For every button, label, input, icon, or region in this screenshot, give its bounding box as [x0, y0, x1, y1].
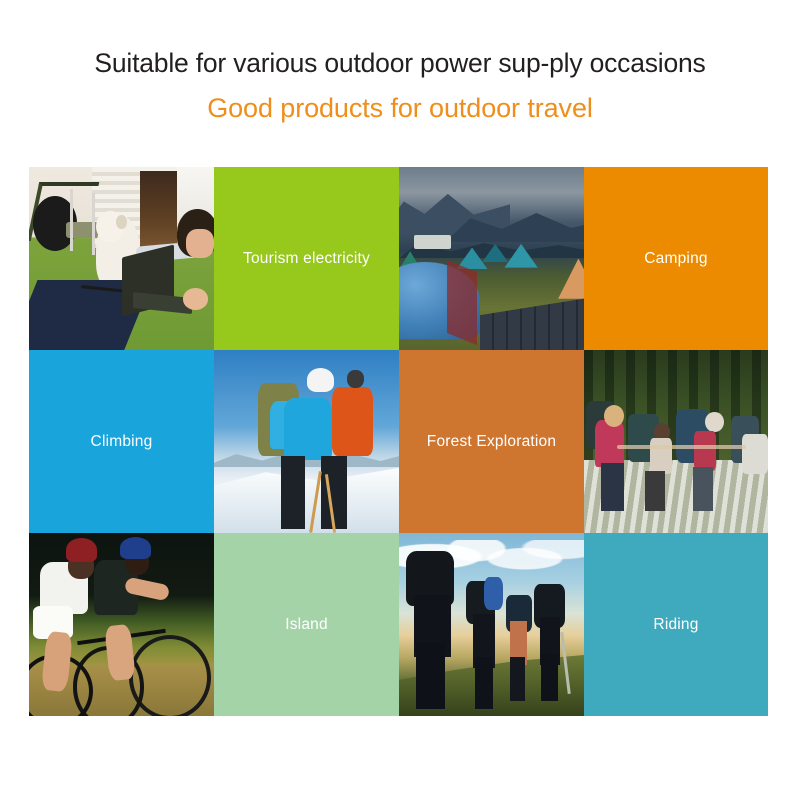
riding-label: Riding [584, 616, 768, 634]
headings-block: Suitable for various outdoor power sup-p… [0, 48, 800, 125]
tents-mountains-image [399, 167, 584, 350]
island-label: Island [214, 616, 399, 634]
mountaineers-snow-image [214, 350, 399, 533]
hiker-legs-silhouette-shape [510, 657, 525, 701]
linked-arms-shape [617, 445, 746, 449]
forest-exploration-tile[interactable]: Forest Exploration [399, 350, 584, 533]
chair-leg-shape [92, 193, 95, 255]
promo-banner: Suitable for various outdoor power sup-p… [0, 0, 800, 800]
camping-label: Camping [584, 250, 768, 268]
hiker-body-shape [694, 431, 716, 471]
cycling-helmet-shape [120, 537, 151, 559]
rv-door-shape [140, 171, 177, 248]
hiker-head-shape [705, 412, 723, 432]
person-hand-shape [183, 288, 209, 310]
cyclists-photo [29, 533, 214, 716]
hikers-sunset-photo [399, 533, 584, 716]
camping-tile[interactable]: Camping [584, 167, 768, 350]
tent-edge-shape [447, 260, 477, 345]
page-subtitle: Good products for outdoor travel [0, 93, 800, 125]
stream-crossing-photo [584, 350, 768, 533]
climber-jacket-shape [284, 398, 332, 460]
climbing-tile[interactable]: Climbing [29, 350, 214, 533]
hiker-body-shape [742, 434, 768, 474]
tourism-electricity-label: Tourism electricity [214, 250, 399, 268]
rv-camping-laptop-image [29, 167, 214, 350]
hiker-legs-shape [693, 467, 713, 511]
orange-backpack-shape [332, 387, 373, 457]
snow-slope-shape [214, 463, 399, 533]
person-face-shape [186, 229, 214, 258]
hiker-legs-silhouette-shape [541, 654, 558, 702]
hiker-body-shape [595, 420, 624, 468]
hiker-legs-shape [645, 471, 665, 511]
climbing-label: Climbing [29, 433, 214, 451]
hikers-sunset-image [399, 533, 584, 716]
tents-mountains-photo [399, 167, 584, 350]
sleeping-mat-shape [484, 577, 503, 610]
chair-leg-shape [70, 189, 73, 251]
mountaineers-snow-photo [214, 350, 399, 533]
climbing-helmet-shape [307, 368, 335, 392]
use-case-grid: Tourism electricity Camping [29, 167, 768, 716]
dog-ear-shape [116, 215, 127, 230]
tent-shape [558, 259, 584, 299]
cyclists-image [29, 533, 214, 716]
hiker-legs-silhouette-shape [475, 657, 494, 708]
camper-van-shape [414, 235, 451, 250]
climber-head-shape [347, 370, 364, 388]
riding-tile[interactable]: Riding [584, 533, 768, 716]
page-title: Suitable for various outdoor power sup-p… [0, 48, 800, 79]
far-mountain-shape [399, 185, 510, 233]
hiker-legs-silhouette-shape [416, 643, 446, 709]
island-tile[interactable]: Island [214, 533, 399, 716]
cycling-helmet-shape [66, 538, 97, 562]
hiker-legs-shape [601, 463, 625, 511]
rv-camping-laptop-photo [29, 167, 214, 350]
folding-solar-panel-shape [480, 297, 584, 350]
forest-exploration-label: Forest Exploration [399, 433, 584, 451]
climber-legs-shape [281, 456, 305, 529]
stream-crossing-image [584, 350, 768, 533]
hiker-body-shape [650, 438, 672, 475]
tourism-electricity-tile[interactable]: Tourism electricity [214, 167, 399, 350]
